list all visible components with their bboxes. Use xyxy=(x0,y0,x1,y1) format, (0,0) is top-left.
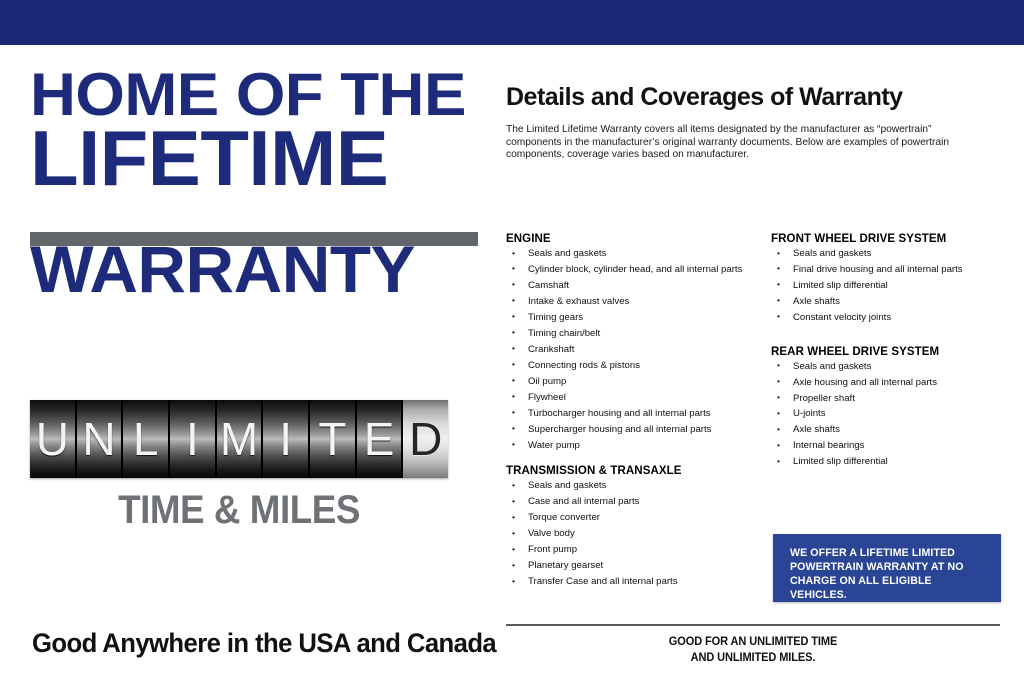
odometer-char: D xyxy=(409,416,442,462)
footer-note-line-2: AND UNLIMITED MILES. xyxy=(518,650,987,666)
page-title: Details and Coverages of Warranty xyxy=(506,83,903,112)
list-item: Cylinder block, cylinder head, and all i… xyxy=(506,264,756,276)
headline-line-2: LIFETIME xyxy=(30,123,489,195)
list-item: Planetary gearset xyxy=(506,560,756,572)
coverage-section: REAR WHEEL DRIVE SYSTEMSeals and gaskets… xyxy=(771,346,1021,469)
list-item: Axle shafts xyxy=(771,424,1021,436)
time-and-miles-label: TIME & MILES xyxy=(47,488,432,533)
list-item: Flywheel xyxy=(506,392,756,404)
list-item: Timing chain/belt xyxy=(506,328,756,340)
coverage-section: FRONT WHEEL DRIVE SYSTEMSeals and gasket… xyxy=(771,233,1021,324)
list-item: Seals and gaskets xyxy=(506,248,756,260)
odometer-char: E xyxy=(364,416,395,462)
list-item: Limited slip differential xyxy=(771,456,1021,468)
odometer-char: T xyxy=(318,416,346,462)
branding-column: HOME OF THE LIFETIME WARRANTY UNLIMITED … xyxy=(0,45,500,681)
odometer-char: I xyxy=(279,416,292,462)
odometer-char: L xyxy=(133,416,159,462)
odometer-cell-4: I xyxy=(170,400,217,478)
list-item: Seals and gaskets xyxy=(771,248,1021,260)
list-item: Water pump xyxy=(506,440,756,452)
list-item: Final drive housing and all internal par… xyxy=(771,264,1021,276)
odometer-char: I xyxy=(186,416,199,462)
odometer-cell-5: M xyxy=(217,400,264,478)
details-column: Details and Coverages of Warranty The Li… xyxy=(500,45,1024,681)
list-item: Torque converter xyxy=(506,512,756,524)
odometer-cell-8: E xyxy=(357,400,404,478)
coverage-item-list: Seals and gasketsCase and all internal p… xyxy=(506,480,756,588)
odometer-cell-2: N xyxy=(77,400,124,478)
list-item: Crankshaft xyxy=(506,344,756,356)
coverage-section-title: ENGINE xyxy=(506,233,756,245)
list-item: Axle housing and all internal parts xyxy=(771,377,1021,389)
list-item: Timing gears xyxy=(506,312,756,324)
footer-note: GOOD FOR AN UNLIMITED TIME AND UNLIMITED… xyxy=(518,634,987,666)
odometer-char: U xyxy=(36,416,69,462)
odometer-cell-6: I xyxy=(263,400,310,478)
odometer-cell-3: L xyxy=(123,400,170,478)
coverage-item-list: Seals and gasketsCylinder block, cylinde… xyxy=(506,248,756,451)
list-item: Turbocharger housing and all internal pa… xyxy=(506,408,756,420)
coverage-column-left: ENGINESeals and gasketsCylinder block, c… xyxy=(506,233,756,602)
odometer-cell-9: D xyxy=(403,400,448,478)
list-item: Constant velocity joints xyxy=(771,312,1021,324)
list-item: Front pump xyxy=(506,544,756,556)
odometer-cell-1: U xyxy=(30,400,77,478)
top-navy-bar xyxy=(0,0,1024,45)
odometer-graphic: UNLIMITED xyxy=(30,400,448,478)
coverage-section-title: REAR WHEEL DRIVE SYSTEM xyxy=(771,346,1021,358)
odometer-char: M xyxy=(220,416,258,462)
offer-callout-text: WE OFFER A LIFETIME LIMITED POWERTRAIN W… xyxy=(790,546,990,602)
coverage-section-title: FRONT WHEEL DRIVE SYSTEM xyxy=(771,233,1021,245)
list-item: Limited slip differential xyxy=(771,280,1021,292)
coverage-section-title: TRANSMISSION & TRANSAXLE xyxy=(506,465,756,477)
list-item: Transfer Case and all internal parts xyxy=(506,576,756,588)
list-item: Oil pump xyxy=(506,376,756,388)
list-item: Internal bearings xyxy=(771,440,1021,452)
list-item: Valve body xyxy=(506,528,756,540)
list-item: Supercharger housing and all internal pa… xyxy=(506,424,756,436)
coverage-item-list: Seals and gasketsAxle housing and all in… xyxy=(771,361,1021,469)
coverage-item-list: Seals and gasketsFinal drive housing and… xyxy=(771,248,1021,324)
coverage-column-right: FRONT WHEEL DRIVE SYSTEMSeals and gasket… xyxy=(771,233,1021,482)
footer-note-line-1: GOOD FOR AN UNLIMITED TIME xyxy=(518,634,987,650)
coverage-section: ENGINESeals and gasketsCylinder block, c… xyxy=(506,233,756,451)
list-item: Seals and gaskets xyxy=(506,480,756,492)
good-anywhere-text: Good Anywhere in the USA and Canada xyxy=(32,628,496,659)
list-item: Axle shafts xyxy=(771,296,1021,308)
list-item: U-joints xyxy=(771,408,1021,420)
list-item: Seals and gaskets xyxy=(771,361,1021,373)
list-item: Propeller shaft xyxy=(771,393,1021,405)
list-item: Camshaft xyxy=(506,280,756,292)
list-item: Connecting rods & pistons xyxy=(506,360,756,372)
odometer-cell-7: T xyxy=(310,400,357,478)
warranty-description: The Limited Lifetime Warranty covers all… xyxy=(506,124,988,162)
footer-divider xyxy=(506,624,1000,626)
list-item: Case and all internal parts xyxy=(506,496,756,508)
list-item: Intake & exhaust valves xyxy=(506,296,756,308)
offer-callout-box: WE OFFER A LIFETIME LIMITED POWERTRAIN W… xyxy=(773,534,1001,602)
warranty-flyer: HOME OF THE LIFETIME WARRANTY UNLIMITED … xyxy=(0,0,1024,681)
odometer-char: N xyxy=(82,416,115,462)
coverage-section: TRANSMISSION & TRANSAXLESeals and gasket… xyxy=(506,465,756,588)
headline-line-3: WARRANTY xyxy=(30,239,489,300)
